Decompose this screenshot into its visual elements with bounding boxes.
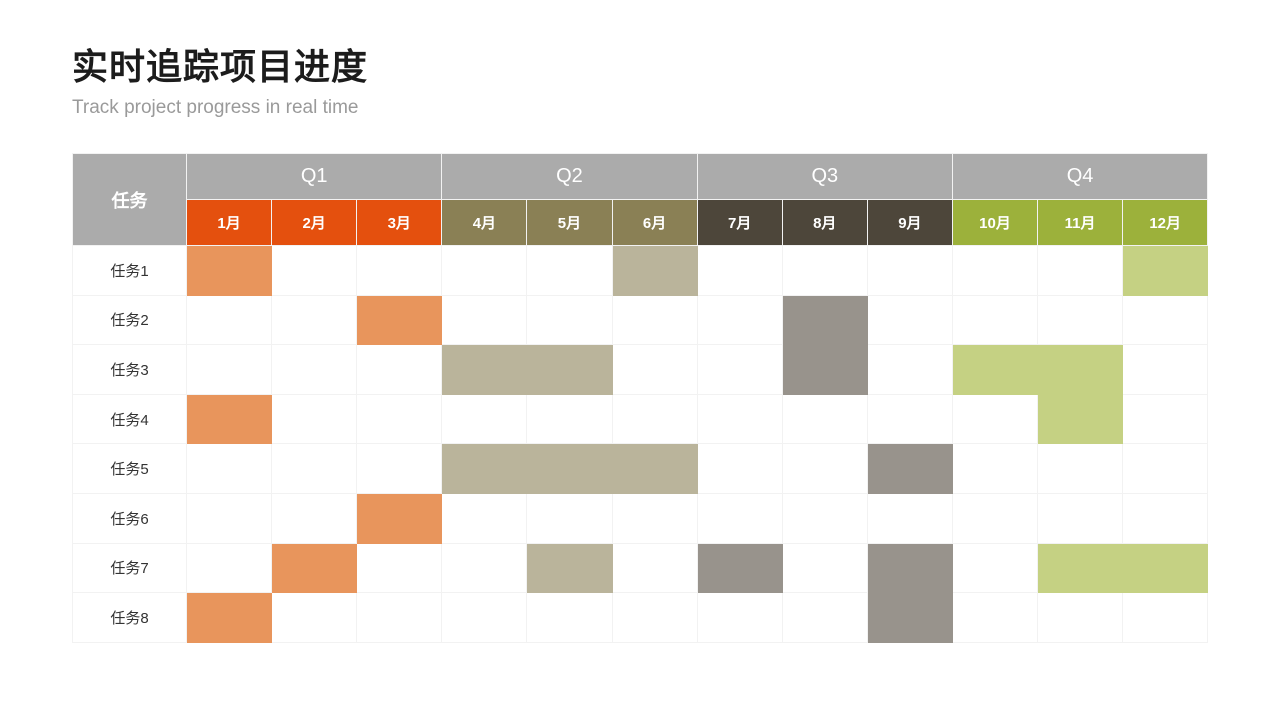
gantt-empty-cell[interactable] [357, 444, 442, 494]
gantt-empty-cell[interactable] [697, 394, 782, 444]
gantt-bar-cell[interactable] [1038, 394, 1123, 444]
gantt-bar-cell[interactable] [442, 345, 527, 395]
quarter-header-q3: Q3 [697, 154, 952, 200]
gantt-empty-cell[interactable] [442, 543, 527, 593]
gantt-empty-cell[interactable] [697, 246, 782, 296]
gantt-bar-cell[interactable] [357, 493, 442, 543]
task-column-header: 任务 [73, 154, 187, 246]
gantt-bar-cell[interactable] [697, 543, 782, 593]
gantt-empty-cell[interactable] [952, 593, 1037, 643]
gantt-empty-cell[interactable] [187, 345, 272, 395]
gantt-empty-cell[interactable] [1123, 493, 1208, 543]
gantt-empty-cell[interactable] [782, 246, 867, 296]
gantt-bar-cell[interactable] [1038, 543, 1123, 593]
task-row-label: 任务2 [73, 295, 187, 345]
gantt-bar-cell[interactable] [1123, 246, 1208, 296]
table-row: 任务4 [73, 394, 1208, 444]
gantt-empty-cell[interactable] [272, 444, 357, 494]
gantt-empty-cell[interactable] [187, 444, 272, 494]
gantt-empty-cell[interactable] [952, 295, 1037, 345]
gantt-empty-cell[interactable] [187, 493, 272, 543]
table-row: 任务1 [73, 246, 1208, 296]
gantt-empty-cell[interactable] [442, 493, 527, 543]
quarter-header-q2: Q2 [442, 154, 697, 200]
table-row: 任务7 [73, 543, 1208, 593]
gantt-empty-cell[interactable] [612, 394, 697, 444]
gantt-empty-cell[interactable] [357, 394, 442, 444]
gantt-empty-cell[interactable] [867, 394, 952, 444]
gantt-empty-cell[interactable] [1123, 394, 1208, 444]
gantt-empty-cell[interactable] [272, 345, 357, 395]
task-row-label: 任务8 [73, 593, 187, 643]
table-row: 任务8 [73, 593, 1208, 643]
gantt-empty-cell[interactable] [442, 593, 527, 643]
gantt-quarter-row: 任务Q1Q2Q3Q4 [73, 154, 1208, 200]
month-header-10: 10月 [952, 200, 1037, 246]
month-header-8: 8月 [782, 200, 867, 246]
gantt-empty-cell[interactable] [867, 295, 952, 345]
gantt-empty-cell[interactable] [357, 543, 442, 593]
gantt-empty-cell[interactable] [527, 394, 612, 444]
gantt-bar-cell[interactable] [187, 246, 272, 296]
quarter-header-q1: Q1 [187, 154, 442, 200]
gantt-chart-table: 任务Q1Q2Q3Q4 1月2月3月4月5月6月7月8月9月10月11月12月 任… [72, 153, 1208, 643]
gantt-empty-cell[interactable] [697, 593, 782, 643]
month-header-1: 1月 [187, 200, 272, 246]
gantt-bar-cell[interactable] [782, 345, 867, 395]
gantt-empty-cell[interactable] [1038, 593, 1123, 643]
gantt-bar-cell[interactable] [1123, 543, 1208, 593]
month-header-3: 3月 [357, 200, 442, 246]
gantt-bar-cell[interactable] [782, 295, 867, 345]
gantt-empty-cell[interactable] [952, 444, 1037, 494]
month-header-11: 11月 [1038, 200, 1123, 246]
table-row: 任务5 [73, 444, 1208, 494]
title-block: 实时追踪项目进度 Track project progress in real … [72, 46, 368, 119]
month-header-12: 12月 [1123, 200, 1208, 246]
gantt-empty-cell[interactable] [952, 543, 1037, 593]
gantt-empty-cell[interactable] [442, 246, 527, 296]
gantt-empty-cell[interactable] [527, 246, 612, 296]
gantt-empty-cell[interactable] [697, 295, 782, 345]
gantt-empty-cell[interactable] [697, 444, 782, 494]
gantt-empty-cell[interactable] [272, 394, 357, 444]
month-header-4: 4月 [442, 200, 527, 246]
month-header-9: 9月 [867, 200, 952, 246]
gantt-empty-cell[interactable] [612, 345, 697, 395]
gantt-bar-cell[interactable] [952, 345, 1037, 395]
gantt-bar-cell[interactable] [442, 444, 527, 494]
gantt-bar-cell[interactable] [527, 543, 612, 593]
gantt-bar-cell[interactable] [867, 444, 952, 494]
gantt-bar-cell[interactable] [272, 543, 357, 593]
gantt-empty-cell[interactable] [527, 295, 612, 345]
month-header-2: 2月 [272, 200, 357, 246]
quarter-header-q4: Q4 [952, 154, 1207, 200]
gantt-empty-cell[interactable] [527, 493, 612, 543]
page-subtitle: Track project progress in real time [72, 97, 368, 119]
gantt-empty-cell[interactable] [867, 246, 952, 296]
gantt-empty-cell[interactable] [867, 493, 952, 543]
gantt-empty-cell[interactable] [782, 543, 867, 593]
table-row: 任务2 [73, 295, 1208, 345]
gantt-empty-cell[interactable] [612, 593, 697, 643]
gantt-empty-cell[interactable] [357, 593, 442, 643]
gantt-empty-cell[interactable] [527, 593, 612, 643]
month-header-6: 6月 [612, 200, 697, 246]
gantt-bar-cell[interactable] [187, 593, 272, 643]
gantt-bar-cell[interactable] [1038, 345, 1123, 395]
gantt-empty-cell[interactable] [952, 493, 1037, 543]
gantt-empty-cell[interactable] [612, 493, 697, 543]
gantt-header: 任务Q1Q2Q3Q4 1月2月3月4月5月6月7月8月9月10月11月12月 [73, 154, 1208, 246]
gantt-empty-cell[interactable] [272, 593, 357, 643]
gantt-bar-cell[interactable] [612, 246, 697, 296]
gantt-empty-cell[interactable] [612, 543, 697, 593]
gantt-empty-cell[interactable] [782, 394, 867, 444]
gantt-bar-cell[interactable] [527, 345, 612, 395]
gantt-empty-cell[interactable] [1038, 246, 1123, 296]
gantt-empty-cell[interactable] [867, 345, 952, 395]
gantt-empty-cell[interactable] [442, 394, 527, 444]
gantt-bar-cell[interactable] [187, 394, 272, 444]
gantt-bar-cell[interactable] [867, 543, 952, 593]
month-header-5: 5月 [527, 200, 612, 246]
gantt-body: 任务1任务2任务3任务4任务5任务6任务7任务8 [73, 246, 1208, 643]
gantt-empty-cell[interactable] [1123, 444, 1208, 494]
gantt-empty-cell[interactable] [697, 493, 782, 543]
gantt-empty-cell[interactable] [1123, 295, 1208, 345]
gantt-bar-cell[interactable] [357, 295, 442, 345]
gantt-empty-cell[interactable] [272, 493, 357, 543]
gantt-empty-cell[interactable] [357, 345, 442, 395]
table-row: 任务6 [73, 493, 1208, 543]
page-title: 实时追踪项目进度 [72, 46, 368, 87]
task-row-label: 任务4 [73, 394, 187, 444]
gantt-empty-cell[interactable] [357, 246, 442, 296]
gantt-empty-cell[interactable] [187, 543, 272, 593]
gantt-empty-cell[interactable] [1038, 493, 1123, 543]
gantt-bar-cell[interactable] [867, 593, 952, 643]
gantt-bar-cell[interactable] [612, 444, 697, 494]
table-row: 任务3 [73, 345, 1208, 395]
gantt-empty-cell[interactable] [187, 295, 272, 345]
task-row-label: 任务1 [73, 246, 187, 296]
gantt-empty-cell[interactable] [1038, 444, 1123, 494]
gantt-empty-cell[interactable] [782, 593, 867, 643]
slide-root: 实时追踪项目进度 Track project progress in real … [0, 0, 1280, 720]
gantt-empty-cell[interactable] [272, 295, 357, 345]
gantt-empty-cell[interactable] [952, 394, 1037, 444]
gantt-empty-cell[interactable] [952, 246, 1037, 296]
gantt-empty-cell[interactable] [697, 345, 782, 395]
gantt-bar-cell[interactable] [527, 444, 612, 494]
task-row-label: 任务3 [73, 345, 187, 395]
gantt-empty-cell[interactable] [272, 246, 357, 296]
task-row-label: 任务6 [73, 493, 187, 543]
gantt-empty-cell[interactable] [782, 493, 867, 543]
gantt-empty-cell[interactable] [442, 295, 527, 345]
gantt-empty-cell[interactable] [612, 295, 697, 345]
gantt-empty-cell[interactable] [1123, 345, 1208, 395]
gantt-empty-cell[interactable] [1038, 295, 1123, 345]
month-header-7: 7月 [697, 200, 782, 246]
task-row-label: 任务5 [73, 444, 187, 494]
gantt-month-row: 1月2月3月4月5月6月7月8月9月10月11月12月 [73, 200, 1208, 246]
gantt-empty-cell[interactable] [782, 444, 867, 494]
task-row-label: 任务7 [73, 543, 187, 593]
gantt-empty-cell[interactable] [1123, 593, 1208, 643]
